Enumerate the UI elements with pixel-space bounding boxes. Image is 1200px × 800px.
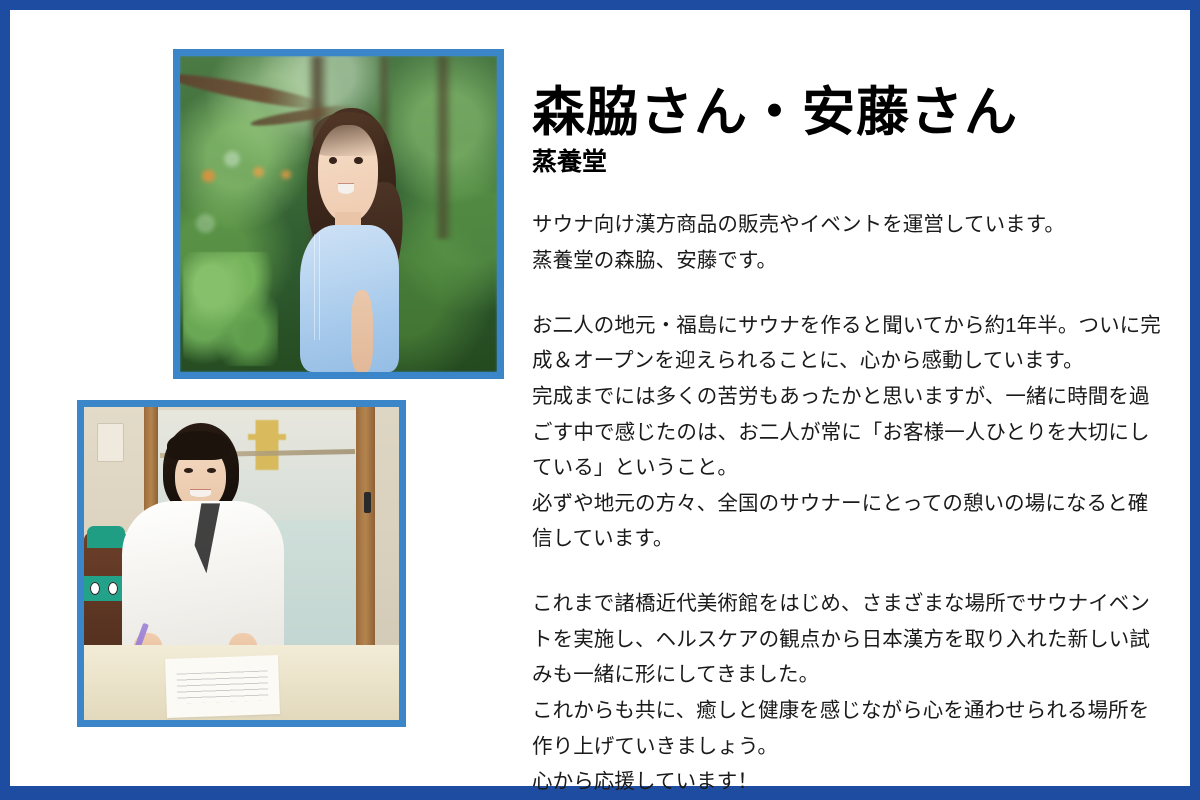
arm: [351, 290, 374, 372]
paper-document: [165, 655, 280, 718]
person-figure: [285, 100, 412, 372]
bokeh-light: [202, 170, 215, 183]
bokeh-light: [224, 151, 240, 167]
door-frame: [356, 407, 375, 657]
bokeh-light: [196, 214, 215, 233]
paragraph: お二人の地元・福島にサウナを作ると聞いてから約1年半。ついに完成＆オープンを迎え…: [532, 308, 1162, 558]
mascot-eye: [108, 582, 118, 595]
tree-trunk: [434, 56, 453, 239]
mascot-hat: [87, 526, 125, 548]
page-canvas: 森脇さん・安藤さん 蒸養堂 サウナ向け漢方商品の販売やイベントを運営しています。…: [10, 10, 1190, 786]
mouth: [338, 184, 354, 193]
paragraph: サウナ向け漢方商品の販売やイベントを運営しています。 蒸養堂の森脇、安藤です。: [532, 207, 1162, 278]
blue-dress: [300, 225, 399, 372]
leaf-cluster: [183, 252, 278, 366]
eye: [354, 157, 362, 164]
page-frame: 森脇さん・安藤さん 蒸養堂 サウナ向け漢方商品の販売やイベントを運営しています。…: [0, 0, 1200, 800]
mouth: [190, 490, 211, 497]
page-title: 森脇さん・安藤さん: [532, 84, 1162, 141]
bokeh-light: [253, 167, 264, 178]
eye: [207, 468, 216, 473]
text-column: 森脇さん・安藤さん 蒸養堂 サウナ向け漢方商品の販売やイベントを運営しています。…: [532, 84, 1162, 800]
page-subtitle: 蒸養堂: [532, 147, 1162, 177]
bangs: [167, 431, 231, 461]
paragraph: これまで諸橋近代美術館をはじめ、さまざまな場所でサウナイベントを実施し、ヘルスケ…: [532, 586, 1162, 800]
body-copy: サウナ向け漢方商品の販売やイベントを運営しています。 蒸養堂の森脇、安藤です。 …: [532, 207, 1162, 800]
photo-portrait-desk-image: [84, 407, 399, 720]
photo-portrait-outdoor: [173, 49, 504, 379]
photo-portrait-outdoor-image: [180, 56, 497, 372]
light-switch: [97, 423, 124, 463]
photo-portrait-desk: [77, 400, 406, 727]
door-handle: [364, 492, 371, 514]
bangs: [313, 112, 384, 155]
